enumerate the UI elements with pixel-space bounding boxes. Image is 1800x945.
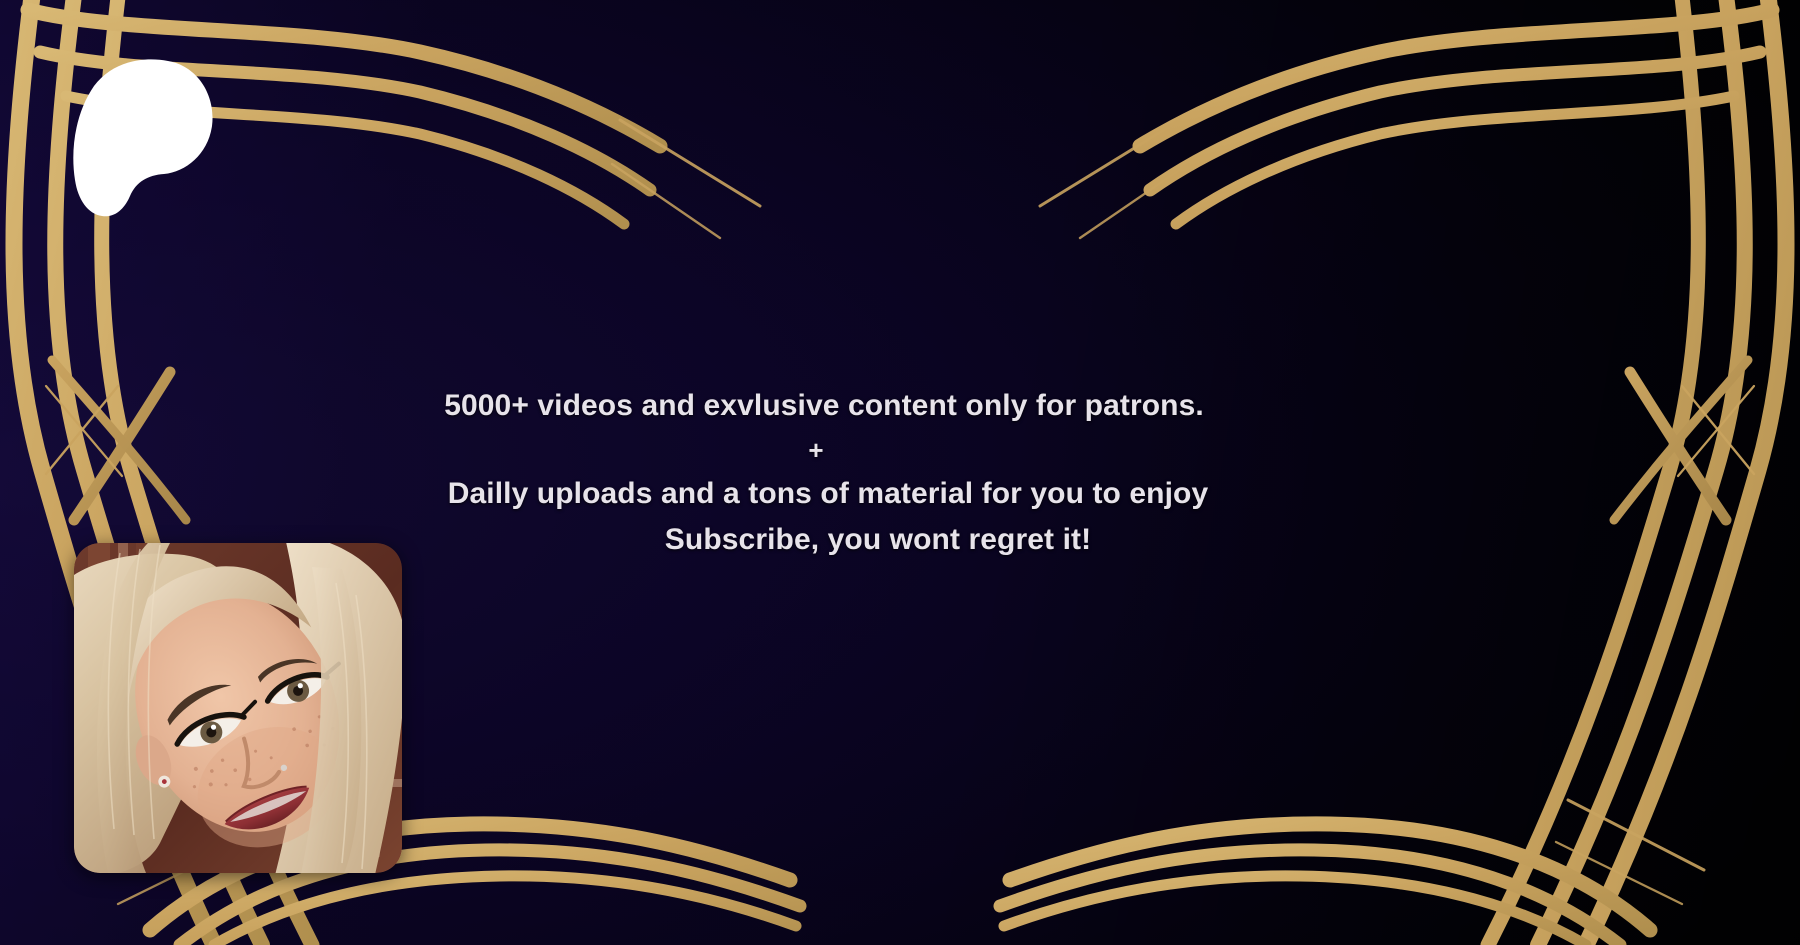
creator-avatar[interactable] (74, 543, 402, 873)
frame-left-crossing (46, 360, 186, 520)
promo-line-plus: + (236, 429, 1396, 471)
frame-right-strands (1488, 0, 1786, 945)
patreon-p-icon (72, 56, 217, 221)
promo-line-4: Subscribe, you wont regret it! (298, 517, 1458, 563)
promo-line-1: 5000+ videos and exvlusive content only … (244, 383, 1404, 429)
patreon-logo[interactable] (72, 56, 217, 221)
promo-banner: 5000+ videos and exvlusive content only … (0, 0, 1800, 945)
frame-right-crossing (1614, 360, 1754, 520)
promo-line-3: Dailly uploads and a tons of material fo… (248, 471, 1408, 517)
frame-top-right-sweep (1040, 10, 1772, 238)
avatar-portrait-image (74, 543, 402, 873)
frame-bottom-right-sweep (1000, 800, 1704, 945)
